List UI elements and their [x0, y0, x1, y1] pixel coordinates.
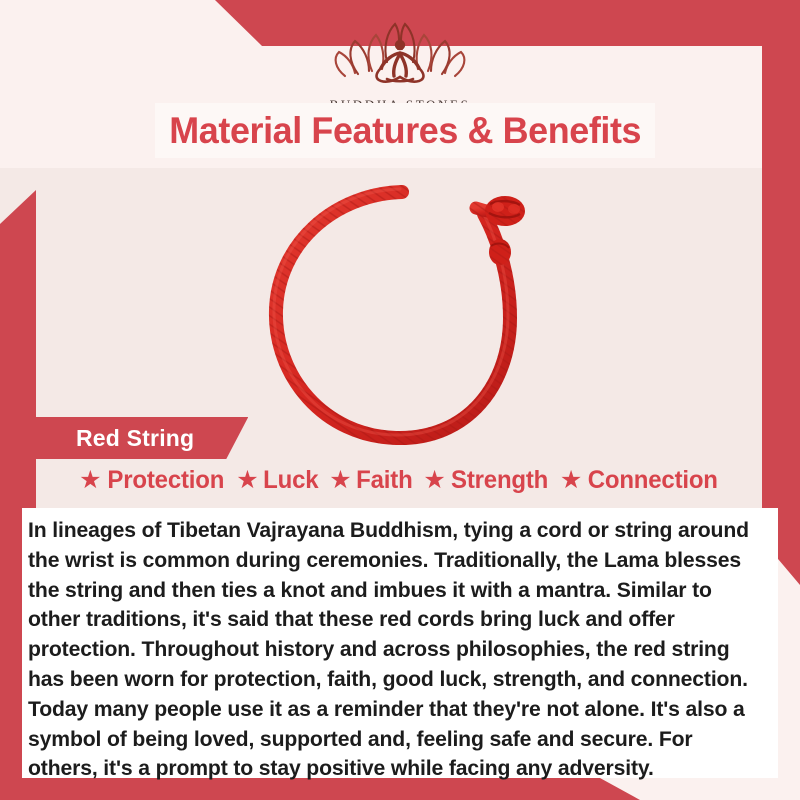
star-icon: ★ — [423, 468, 445, 493]
description-text: In lineages of Tibetan Vajrayana Buddhis… — [28, 516, 761, 784]
star-icon: ★ — [329, 468, 351, 493]
page-title: Material Features & Benefits — [169, 110, 641, 152]
benefit-item-connection: ★ Connection — [557, 466, 724, 495]
benefit-label: Connection — [588, 466, 718, 495]
benefit-item-luck: ★ Luck — [233, 466, 322, 495]
lotus-meditation-icon — [325, 16, 475, 94]
brand-logo: BUDDHA STONES — [0, 16, 800, 111]
benefit-item-protection: ★ Protection — [76, 466, 229, 495]
benefit-item-strength: ★ Strength — [420, 466, 553, 495]
red-braided-string-bracelet — [262, 178, 538, 473]
benefits-list: ★ Protection ★ Luck ★ Faith ★ Strength ★… — [0, 466, 800, 495]
star-icon: ★ — [560, 468, 582, 493]
benefit-item-faith: ★ Faith — [326, 466, 416, 495]
benefit-label: Protection — [107, 466, 224, 495]
benefit-label: Luck — [263, 466, 318, 495]
star-icon: ★ — [79, 468, 101, 493]
benefit-label: Faith — [356, 466, 412, 495]
star-icon: ★ — [236, 468, 258, 493]
material-tag-label: Red String — [76, 425, 194, 452]
material-tag: Red String — [18, 417, 248, 459]
title-banner: Material Features & Benefits — [155, 103, 655, 158]
benefit-label: Strength — [451, 466, 548, 495]
material-features-poster: BUDDHA STONES Material Features & Benefi… — [0, 0, 800, 800]
description-panel: In lineages of Tibetan Vajrayana Buddhis… — [22, 508, 778, 778]
